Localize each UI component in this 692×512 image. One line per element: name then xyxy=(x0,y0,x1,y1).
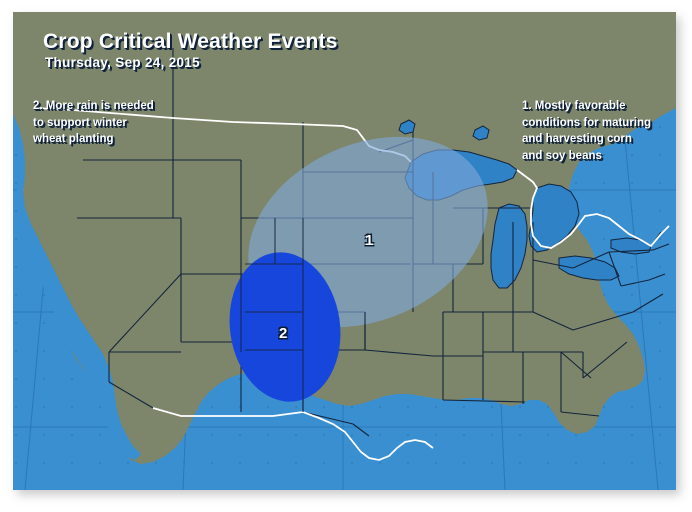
annotation-note-1-line-4: and soy beans xyxy=(522,148,651,165)
annotation-note-1: 1. Mostly favorable conditions for matur… xyxy=(522,98,651,164)
map-canvas[interactable] xyxy=(13,12,676,490)
region-1-label: 1 xyxy=(365,232,373,249)
annotation-note-2-line-3: wheat planting xyxy=(33,131,154,148)
screenshot-root: Crop Critical Weather Events Thursday, S… xyxy=(0,0,692,512)
annotation-note-1-line-3: and harvesting corn xyxy=(522,131,651,148)
annotation-note-1-line-2: conditions for maturing xyxy=(522,115,651,132)
map-date: Thursday, Sep 24, 2015 xyxy=(45,55,200,70)
annotation-note-2-line-2: to support winter xyxy=(33,115,154,132)
annotation-note-2-line-1: 2. More rain is needed xyxy=(33,98,154,115)
page-title: Crop Critical Weather Events xyxy=(43,30,338,54)
weather-map[interactable]: Crop Critical Weather Events Thursday, S… xyxy=(13,12,676,490)
annotation-note-1-line-1: 1. Mostly favorable xyxy=(522,98,651,115)
region-2-label: 2 xyxy=(279,325,287,342)
annotation-note-2: 2. More rain is needed to support winter… xyxy=(33,98,154,148)
